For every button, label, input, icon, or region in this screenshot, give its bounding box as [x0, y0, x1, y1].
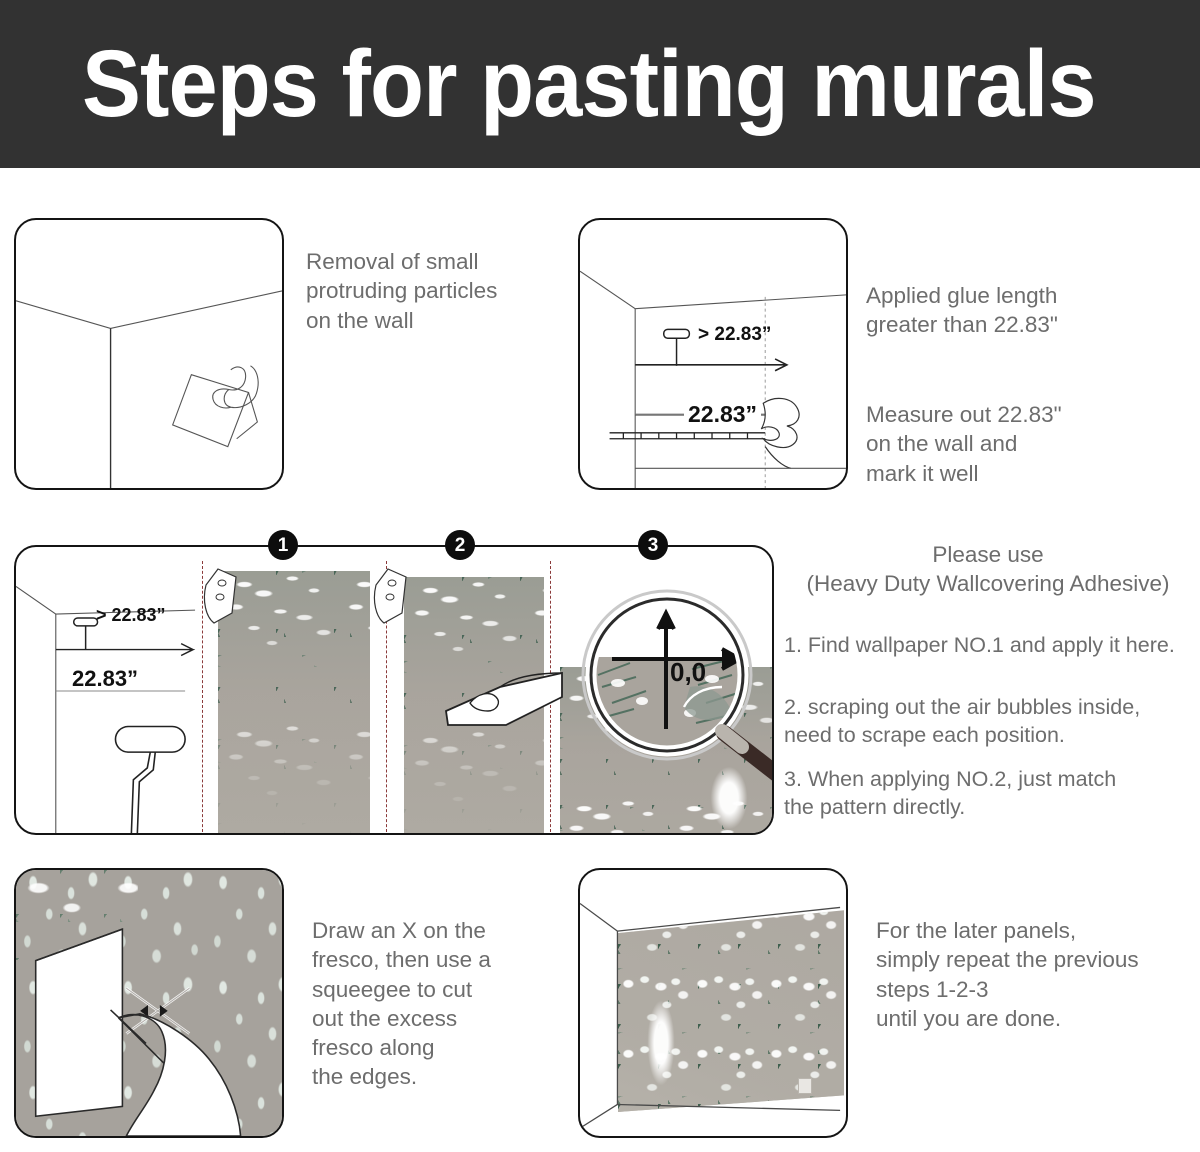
apply-measure-length-label: 22.83”	[72, 666, 138, 692]
step-badge-1: 1	[268, 530, 298, 560]
repeat-caption: For the later panels, simply repeat the …	[876, 916, 1200, 1033]
panel-trim	[14, 868, 284, 1138]
squeegee-hand-icon	[444, 663, 566, 739]
measure-illustration	[580, 220, 846, 488]
trim-illustration	[16, 870, 282, 1136]
instruction-item-3: 3. When applying NO.2, just match the pa…	[784, 766, 1194, 821]
glue-tool-icon	[664, 329, 690, 365]
scraper-icon	[173, 366, 259, 447]
title-banner: Steps for pasting murals	[0, 0, 1200, 168]
panel-wall-prep	[14, 218, 284, 490]
mural-strip-1	[218, 571, 370, 835]
step-badge-3: 3	[638, 530, 668, 560]
hand-peel-icon-1	[198, 567, 238, 635]
instruction-sheet: Steps for pasting murals Removal of smal…	[0, 0, 1200, 1152]
instruction-item-1: 1. Find wallpaper NO.1 and apply it here…	[784, 632, 1194, 660]
paint-roller-icon	[115, 726, 185, 833]
glue-tool-icon-small	[74, 618, 98, 650]
trim-caption: Draw an X on the fresco, then use a sque…	[312, 916, 562, 1092]
glue-length-caption: Applied glue length greater than 22.83"	[866, 281, 1196, 340]
panel-measure: > 22.83” 22.83”	[578, 218, 848, 490]
step-badge-2: 2	[445, 530, 475, 560]
panel-repeat	[578, 868, 848, 1138]
measure-length-label: 22.83”	[684, 401, 761, 428]
adhesive-heading: Please use (Heavy Duty Wallcovering Adhe…	[778, 541, 1198, 599]
apply-glue-length-label: > 22.83”	[96, 605, 166, 626]
wall-prep-caption: Removal of small protruding particles on…	[306, 247, 556, 335]
hand-icon	[118, 1014, 240, 1136]
room-perspective-lines	[580, 870, 846, 1136]
hand-peel-icon-2	[368, 567, 408, 635]
ruler-icon	[610, 433, 766, 439]
hand-icon	[761, 398, 799, 468]
page-title: Steps for pasting murals	[82, 37, 1096, 132]
wall-prep-illustration	[16, 220, 282, 488]
instruction-item-2: 2. scraping out the air bubbles inside, …	[784, 694, 1194, 749]
measure-mark-caption: Measure out 22.83" on the wall and mark …	[866, 400, 1196, 488]
glue-length-label: > 22.83”	[698, 324, 771, 346]
origin-label: 0,0	[670, 657, 706, 688]
